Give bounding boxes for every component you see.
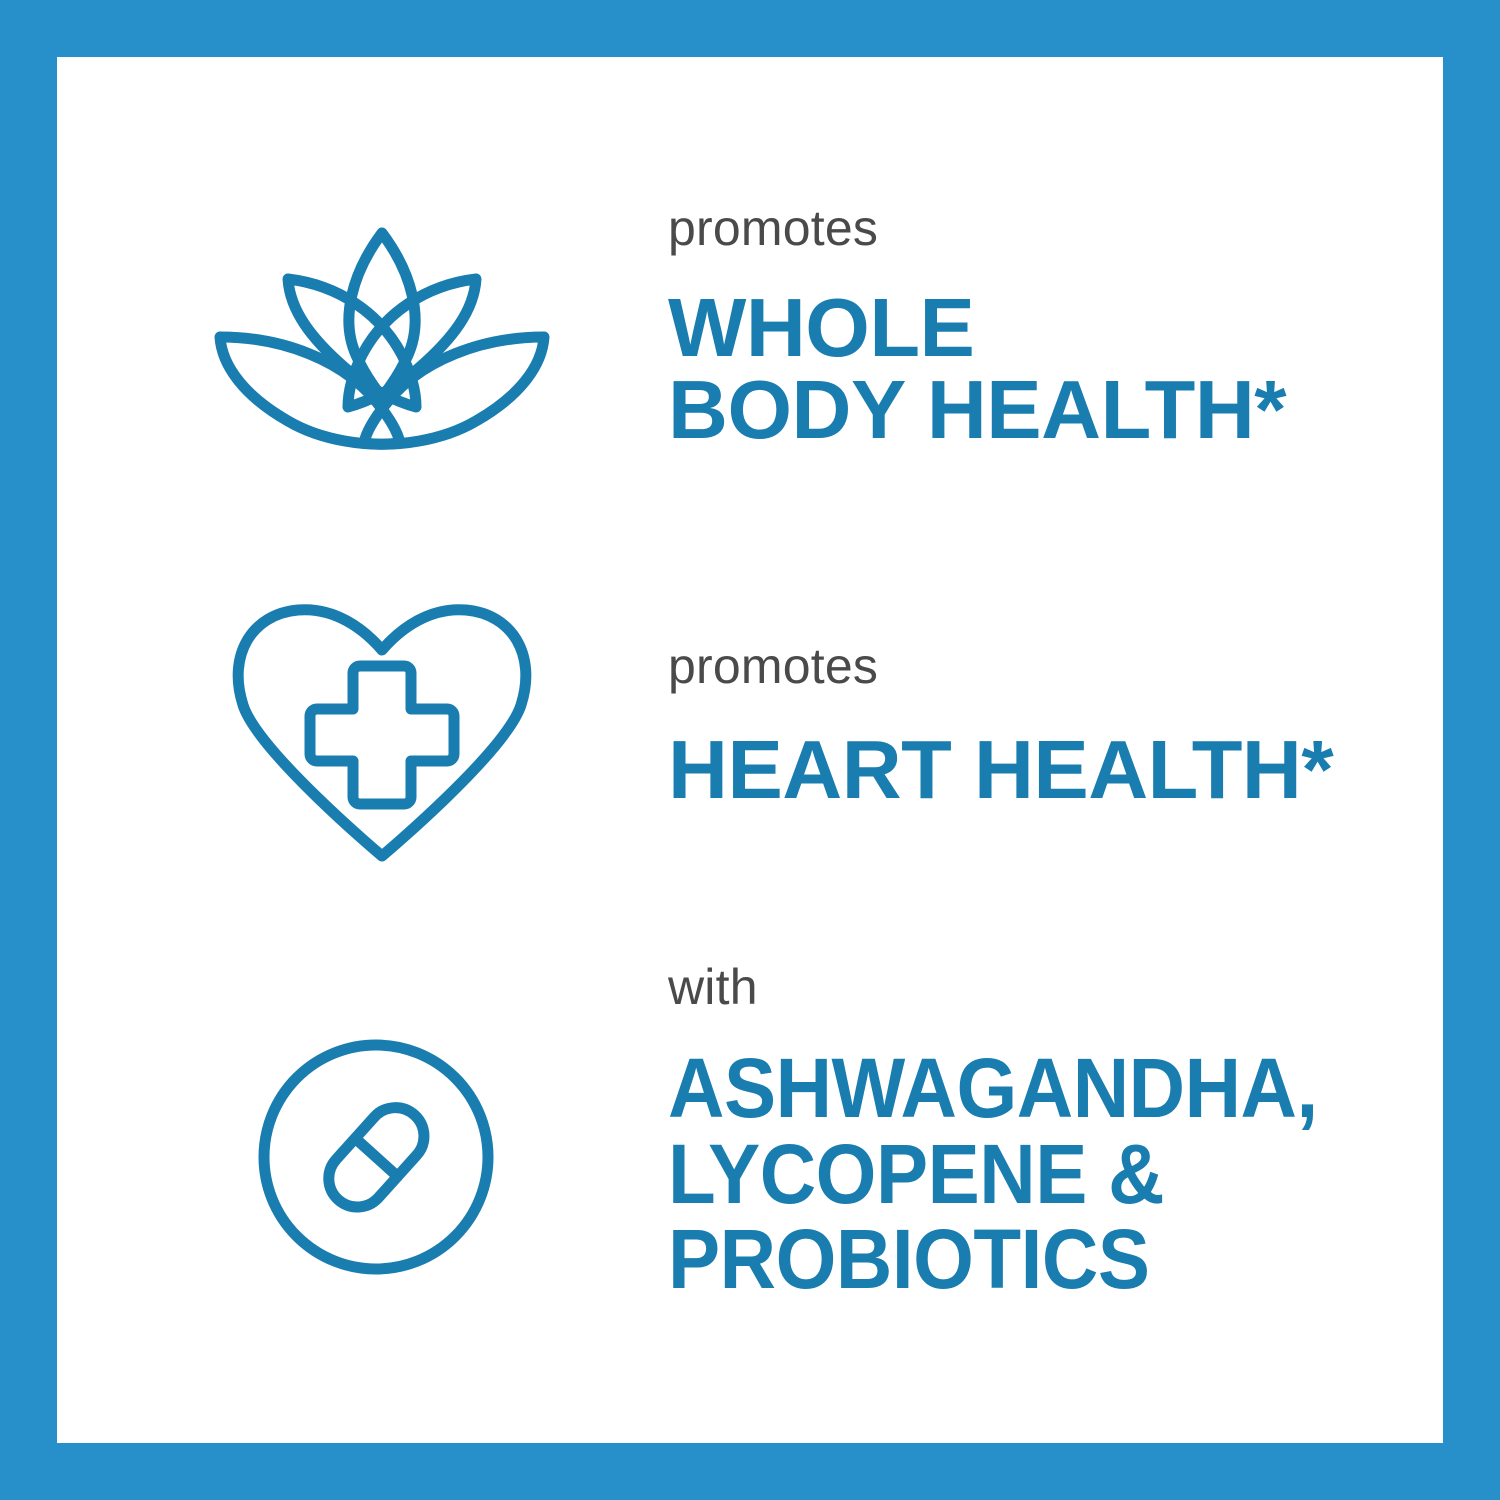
- heart-with-medical-cross-icon: [230, 602, 535, 867]
- eyebrow-label-3: with: [668, 962, 1367, 1012]
- eyebrow-label-2: promotes: [668, 641, 1333, 691]
- headline-2-line-1: HEART HEALTH*: [668, 729, 1333, 811]
- lotus-flower-icon: [212, 215, 552, 465]
- benefits-card: promotes WHOLE BODY HEALTH* promotes HEA…: [57, 57, 1443, 1443]
- benefit-text-block-3: with ASHWAGANDHA, LYCOPENE & PROBIOTICS: [668, 962, 1367, 1303]
- headline-3-line-1: ASHWAGANDHA,: [668, 1046, 1318, 1132]
- headline-2: HEART HEALTH*: [668, 729, 1333, 811]
- eyebrow-label-1: promotes: [668, 203, 1286, 253]
- benefit-text-block-2: promotes HEART HEALTH*: [668, 641, 1333, 811]
- headline-3-line-2: LYCOPENE &: [668, 1132, 1318, 1218]
- benefit-text-block-1: promotes WHOLE BODY HEALTH*: [668, 203, 1286, 451]
- capsule-in-circle-icon: [256, 1037, 496, 1277]
- headline-3: ASHWAGANDHA, LYCOPENE & PROBIOTICS: [668, 1046, 1318, 1303]
- headline-1-line-1: WHOLE: [668, 287, 1286, 369]
- headline-1-line-2: BODY HEALTH*: [668, 369, 1286, 451]
- headline-3-line-3: PROBIOTICS: [668, 1217, 1318, 1303]
- headline-1: WHOLE BODY HEALTH*: [668, 287, 1286, 451]
